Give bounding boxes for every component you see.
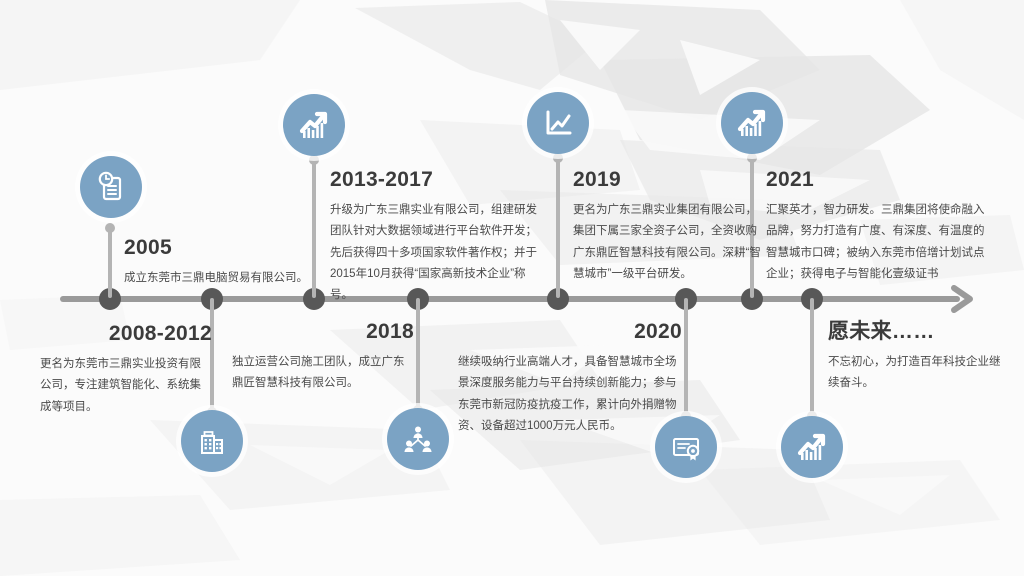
entry-body-2005: 成立东莞市三鼎电脑贸易有限公司。 — [124, 268, 324, 289]
entry-body-future: 不忘初心，为打造百年科技企业继续奋斗。 — [828, 352, 1006, 395]
line-chart-icon[interactable] — [527, 92, 589, 154]
connector-future — [810, 298, 814, 416]
timeline-entry-2020: 2020 继续吸纳行业高端人才，具备智慧城市全场景深度服务能力与平台持续创新能力… — [458, 320, 682, 437]
entry-body-2019: 更名为广东三鼎实业集团有限公司，集团下属三家全资子公司，全资收购广东鼎匠智慧科技… — [573, 200, 761, 285]
entry-body-2020: 继续吸纳行业高端人才，具备智慧城市全场景深度服务能力与平台持续创新能力；参与东莞… — [458, 352, 682, 437]
growth-arrow-chart-icon[interactable] — [781, 416, 843, 478]
entry-year-future: 愿未来…… — [828, 320, 1006, 343]
timeline-entry-2008-2012: 2008-2012 更名为东莞市三鼎实业投资有限公司，专注建筑智能化、系统集成等… — [40, 322, 212, 418]
timeline-entry-2013-2017: 2013-2017 升级为广东三鼎实业有限公司，组建研发团队针对大数据领域进行平… — [330, 168, 548, 306]
entry-year-2005: 2005 — [124, 236, 324, 259]
connector-2020 — [684, 298, 688, 416]
entry-year-2021: 2021 — [766, 168, 990, 191]
timeline-entry-future: 愿未来…… 不忘初心，为打造百年科技企业继续奋斗。 — [828, 320, 1006, 395]
office-buildings-icon[interactable] — [181, 410, 243, 472]
timeline-entry-2018: 2018 独立运营公司施工团队，成立广东鼎匠智慧科技有限公司。 — [232, 320, 414, 395]
connector-2019 — [556, 158, 560, 298]
timeline-entry-2005: 2005 成立东莞市三鼎电脑贸易有限公司。 — [124, 236, 324, 289]
entry-body-2018: 独立运营公司施工团队，成立广东鼎匠智慧科技有限公司。 — [232, 352, 414, 395]
entry-body-2013-2017: 升级为广东三鼎实业有限公司，组建研发团队针对大数据领域进行平台软件开发；先后获得… — [330, 200, 548, 306]
team-network-icon[interactable] — [387, 408, 449, 470]
growth-arrow-chart-icon[interactable] — [283, 94, 345, 156]
timeline-entry-2019: 2019 更名为广东三鼎实业集团有限公司，集团下属三家全资子公司，全资收购广东鼎… — [573, 168, 761, 285]
arrow-right-icon — [948, 282, 982, 316]
entry-body-2008-2012: 更名为东莞市三鼎实业投资有限公司，专注建筑智能化、系统集成等项目。 — [40, 354, 212, 418]
timeline-entry-2021: 2021 汇聚英才，智力研发。三鼎集团将使命融入品牌，努力打造有广度、有深度、有… — [766, 168, 990, 285]
connector-2018 — [416, 298, 420, 410]
entry-year-2019: 2019 — [573, 168, 761, 191]
document-clock-icon[interactable] — [80, 156, 142, 218]
timeline-stage: 2005 成立东莞市三鼎电脑贸易有限公司。 2008-2012 更名为东莞市三鼎… — [0, 0, 1024, 576]
connector-2005 — [108, 228, 112, 298]
entry-year-2020: 2020 — [458, 320, 682, 343]
entry-year-2018: 2018 — [232, 320, 414, 343]
entry-year-2008-2012: 2008-2012 — [40, 322, 212, 345]
growth-arrow-chart-icon[interactable] — [721, 92, 783, 154]
entry-year-2013-2017: 2013-2017 — [330, 168, 548, 191]
entry-body-2021: 汇聚英才，智力研发。三鼎集团将使命融入品牌，努力打造有广度、有深度、有温度的智慧… — [766, 200, 990, 285]
